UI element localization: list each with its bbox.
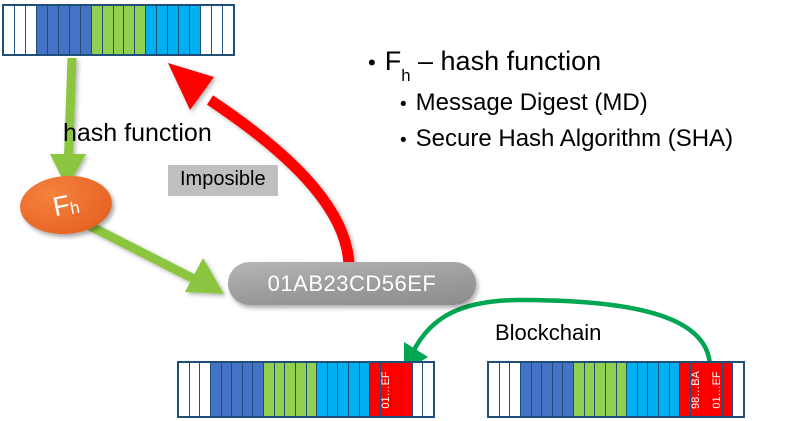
block-cell [212, 6, 223, 54]
block-cell [146, 6, 157, 54]
block-cell [26, 6, 37, 54]
block-cell [585, 363, 596, 416]
block-cell-hash [702, 363, 713, 416]
block-cell [92, 6, 103, 54]
block-cell [413, 363, 424, 416]
block-cell [733, 363, 743, 416]
block-cell [670, 363, 681, 416]
block-cell [201, 6, 212, 54]
block-cell [606, 363, 617, 416]
bullet-marker-icon: • [400, 94, 407, 116]
blockchain-label: Blockchain [495, 320, 601, 346]
block-cell [4, 6, 15, 54]
block-cell [232, 363, 243, 416]
block-cell-hash: 98…BA [691, 363, 702, 416]
bullet-fh-prefix: F [385, 46, 402, 76]
block-cell-hash [402, 363, 413, 416]
block-cell [211, 363, 222, 416]
block-cell [510, 363, 521, 416]
hash-cell-label: 01…EF [711, 371, 723, 408]
arrow-hashfunction-to-digest [88, 225, 224, 294]
hash-cell-label: 01…EF [380, 371, 392, 408]
block-cell-hash [392, 363, 403, 416]
block-cell [500, 363, 511, 416]
block-cell [59, 6, 70, 54]
block-cell [124, 6, 135, 54]
block-cell-hash: 01…EF [381, 363, 392, 416]
hash-digest-value: 01AB23CD56EF [268, 271, 437, 297]
block-cell [617, 363, 628, 416]
hash-digest-pill[interactable]: 01AB23CD56EF [228, 262, 476, 305]
hash-function-label: hash function [63, 119, 212, 148]
block-cell [190, 363, 201, 416]
bullet-item-message-digest: • Message Digest (MD) [400, 89, 800, 117]
block-cell [285, 363, 296, 416]
block-cell [317, 363, 328, 416]
block-cell [243, 363, 254, 416]
slide-canvas: 01…EF 98…BA 01…EF [0, 0, 800, 421]
block-cell [179, 6, 190, 54]
bullet-marker-icon: • [368, 50, 376, 76]
bullet-text: Secure Hash Algorithm (SHA) [416, 125, 733, 153]
blockchain-block-right: 98…BA 01…EF [487, 361, 745, 418]
block-cell [48, 6, 59, 54]
block-cell [200, 363, 211, 416]
block-cell [157, 6, 168, 54]
block-cell [264, 363, 275, 416]
block-cell [135, 6, 146, 54]
block-cell-hash: 01…EF [712, 363, 723, 416]
block-cell [553, 363, 564, 416]
block-cell [349, 363, 360, 416]
block-cell [223, 6, 233, 54]
bullet-marker-icon: • [400, 130, 407, 152]
ellipse-label: Fh [15, 168, 116, 242]
block-cell [222, 363, 233, 416]
block-cell [328, 363, 339, 416]
block-cell [532, 363, 543, 416]
block-cell-hash [370, 363, 381, 416]
block-cell [638, 363, 649, 416]
block-cell [70, 6, 81, 54]
imposible-callout: Imposible [168, 165, 278, 196]
bullet-item-secure-hash-algorithm: • Secure Hash Algorithm (SHA) [400, 125, 800, 153]
block-cell [542, 363, 553, 416]
bullet-fh-subscript: h [401, 66, 410, 85]
block-cell [627, 363, 638, 416]
block-cell [648, 363, 659, 416]
block-cell [190, 6, 201, 54]
blockchain-block-left: 01…EF [177, 361, 435, 418]
bullet-fh-suffix: – hash function [411, 46, 602, 76]
bullet-item-hash-function: • Fh – hash function [368, 46, 800, 81]
block-cell [595, 363, 606, 416]
prev-hash-cell-label: 98…BA [690, 371, 702, 409]
block-cell [103, 6, 114, 54]
block-cell [81, 6, 92, 54]
block-cell-hash [680, 363, 691, 416]
block-cell [423, 363, 433, 416]
block-cell [521, 363, 532, 416]
block-cell [179, 363, 190, 416]
block-cell [168, 6, 179, 54]
block-cell [659, 363, 670, 416]
block-cell [15, 6, 26, 54]
block-cell [253, 363, 264, 416]
block-cell-hash [723, 363, 734, 416]
bullet-text: Fh – hash function [385, 46, 601, 81]
block-cell [307, 363, 318, 416]
block-cell [275, 363, 286, 416]
block-cell [563, 363, 574, 416]
block-cell [360, 363, 371, 416]
bullet-list: • Fh – hash function • Message Digest (M… [368, 46, 800, 161]
hash-function-ellipse[interactable]: Fh [20, 176, 112, 234]
block-cell [114, 6, 125, 54]
block-cell [574, 363, 585, 416]
block-cell [489, 363, 500, 416]
block-cell [296, 363, 307, 416]
block-cell [338, 363, 349, 416]
original-message-bar [2, 4, 235, 56]
block-cell [37, 6, 48, 54]
bullet-text: Message Digest (MD) [416, 89, 648, 117]
